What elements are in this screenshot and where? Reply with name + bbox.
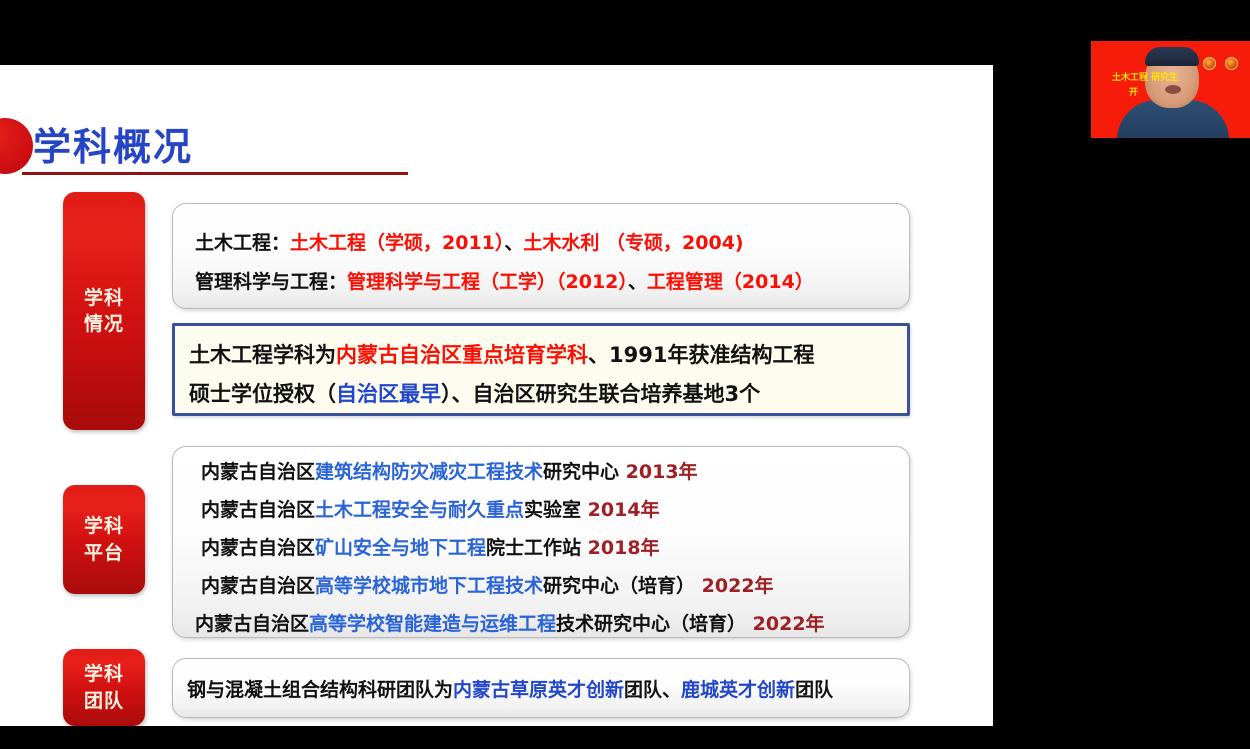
title-underline-rule	[22, 172, 408, 175]
text-segment: 研究中心	[543, 461, 626, 483]
text-segment: ）、自治区研究生联合培养基地3个	[441, 382, 760, 406]
page-title: 学科概况	[33, 116, 193, 171]
text-segment: 建筑结构防灾减灾工程技术	[315, 461, 543, 483]
sidebar-label-line: 平台	[84, 540, 124, 566]
webcam-video-tile[interactable]: 土木工程 研究生 开	[1075, 25, 1250, 154]
content-line: 硕士学位授权（自治区最早）、自治区研究生联合培养基地3个	[189, 378, 760, 408]
text-segment: 研究中心（培育）	[543, 575, 702, 597]
text-segment: 、	[628, 271, 647, 293]
sidebar-label-line: 学科	[84, 661, 124, 687]
text-segment: 鹿城英才创新	[681, 679, 795, 701]
content-box-key-discipline: 土木工程学科为内蒙古自治区重点培育学科、1991年获准结构工程硕士学位授权（自治…	[172, 323, 910, 416]
content-line: 内蒙古自治区建筑结构防灾减灾工程技术研究中心 2013年	[201, 457, 698, 484]
text-segment: 土木工程安全与耐久重点	[315, 499, 524, 521]
content-line: 内蒙古自治区高等学校城市地下工程技术研究中心（培育） 2022年	[201, 571, 774, 598]
text-segment: 团队	[795, 679, 833, 701]
text-segment: 院士工作站	[486, 537, 588, 559]
sidebar-label-line: 情况	[84, 311, 124, 337]
screen-capture: 学科概况 学科 情况 学科 平台 学科 团队 土木工程：土木工程（学硕，2011…	[0, 0, 1250, 749]
text-segment: 高等学校智能建造与运维工程	[309, 613, 556, 635]
text-segment: 内蒙古自治区	[201, 575, 315, 597]
content-box-majors: 土木工程：土木工程（学硕，2011）、土木水利 （专硕，2004)管理科学与工程…	[172, 203, 910, 309]
text-segment: 土木工程：	[195, 232, 290, 254]
text-segment: 高等学校城市地下工程技术	[315, 575, 543, 597]
text-segment: 矿山安全与地下工程	[315, 537, 486, 559]
text-segment: 2018年	[588, 537, 660, 559]
presentation-slide: 学科概况 学科 情况 学科 平台 学科 团队 土木工程：土木工程（学硕，2011…	[0, 65, 993, 726]
content-line: 内蒙古自治区高等学校智能建造与运维工程技术研究中心（培育） 2022年	[195, 609, 825, 636]
backdrop-banner-line-1: 土木工程 研究生	[1112, 70, 1178, 83]
university-emblem-icon	[1225, 57, 1238, 70]
text-segment: 土木水利 （专硕，2004)	[523, 232, 743, 254]
speaker-mouth	[1165, 85, 1181, 94]
text-segment: 内蒙古自治区	[201, 499, 315, 521]
content-line: 管理科学与工程：管理科学与工程（工学）（2012）、工程管理（2014）	[195, 267, 814, 294]
text-segment: 、1991年获准结构工程	[588, 343, 814, 367]
content-line: 土木工程：土木工程（学硕，2011）、土木水利 （专硕，2004)	[195, 228, 744, 255]
text-segment: 、	[504, 232, 523, 254]
content-line: 内蒙古自治区矿山安全与地下工程院士工作站 2018年	[201, 533, 660, 560]
content-line: 内蒙古自治区土木工程安全与耐久重点实验室 2014年	[201, 495, 660, 522]
text-segment: 土木工程学科为	[189, 343, 336, 367]
webcam-video-frame: 土木工程 研究生 开	[1091, 41, 1250, 138]
text-segment: 2013年	[626, 461, 698, 483]
content-line: 土木工程学科为内蒙古自治区重点培育学科、1991年获准结构工程	[189, 339, 814, 369]
university-emblem-icon	[1203, 57, 1216, 70]
text-segment: 内蒙古草原英才创新	[453, 679, 624, 701]
text-segment: 内蒙古自治区	[201, 537, 315, 559]
text-segment: 自治区最早	[336, 382, 441, 406]
sidebar-label-line: 团队	[84, 688, 124, 714]
text-segment: 团队、	[624, 679, 681, 701]
text-segment: 管理科学与工程（工学）（2012）	[347, 271, 628, 293]
sidebar-label-line: 学科	[84, 513, 124, 539]
text-segment: 内蒙古自治区重点培育学科	[336, 343, 588, 367]
content-line: 钢与混凝土组合结构科研团队为内蒙古草原英才创新团队、鹿城英才创新团队	[187, 675, 833, 702]
text-segment: 钢与混凝土组合结构科研团队为	[187, 679, 453, 701]
content-box-team: 钢与混凝土组合结构科研团队为内蒙古草原英才创新团队、鹿城英才创新团队	[172, 658, 910, 718]
backdrop-banner-line-2: 开	[1129, 85, 1138, 98]
sidebar-label-discipline-situation: 学科 情况	[63, 192, 145, 430]
text-segment: 管理科学与工程：	[195, 271, 347, 293]
sidebar-label-discipline-team: 学科 团队	[63, 649, 145, 726]
sidebar-label-line: 学科	[84, 285, 124, 311]
text-segment: 工程管理（2014）	[647, 271, 814, 293]
speaker-hair	[1145, 47, 1199, 66]
text-segment: 硕士学位授权（	[189, 382, 336, 406]
text-segment: 2022年	[702, 575, 774, 597]
text-segment: 实验室	[524, 499, 588, 521]
title-bullet-icon	[0, 118, 33, 174]
text-segment: 土木工程（学硕，2011）	[290, 232, 504, 254]
text-segment: 内蒙古自治区	[195, 613, 309, 635]
text-segment: 技术研究中心（培育）	[556, 613, 753, 635]
text-segment: 2022年	[753, 613, 825, 635]
text-segment: 2014年	[588, 499, 660, 521]
text-segment: 内蒙古自治区	[201, 461, 315, 483]
sidebar-label-discipline-platform: 学科 平台	[63, 485, 145, 594]
content-box-platforms: 内蒙古自治区建筑结构防灾减灾工程技术研究中心 2013年内蒙古自治区土木工程安全…	[172, 446, 910, 638]
